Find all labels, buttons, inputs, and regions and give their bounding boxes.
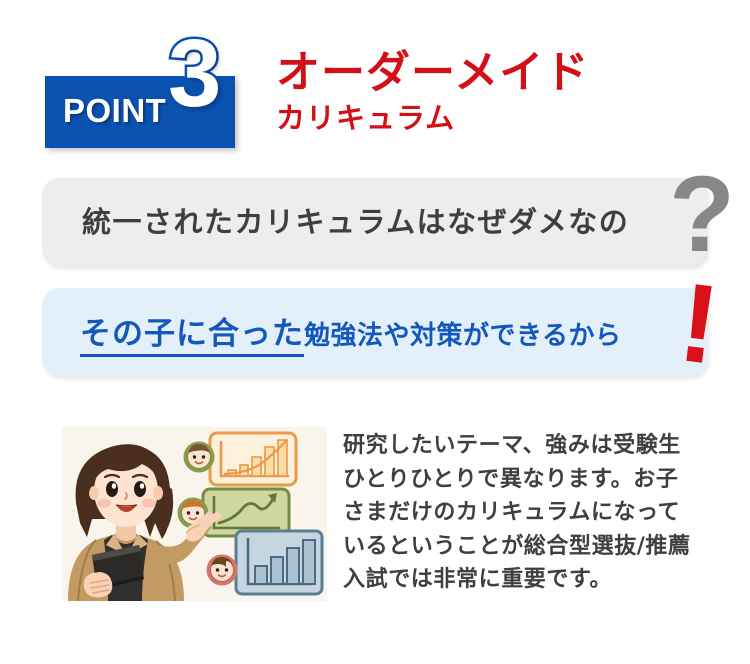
answer-section: その子に合った勉強法や対策ができるから ! — [0, 288, 750, 380]
blue-bar-chart-graphic — [236, 531, 322, 594]
teacher-pointing-at-charts-illustration — [62, 427, 327, 601]
student-avatar-red-3 — [207, 555, 238, 586]
question-bubble: 統一されたカリキュラムはなぜダメなの — [42, 178, 707, 266]
answer-emphasis: その子に合った — [80, 316, 304, 357]
question-mark-icon: ? — [669, 160, 735, 268]
body-paragraph: 研究したいテーマ、強みは受験生ひとりひとりで異なります。お子さまだけのカリキュラ… — [343, 429, 701, 597]
answer-rest: 勉強法や対策ができるから — [304, 321, 621, 351]
orange-bar-chart-graphic — [210, 433, 296, 485]
page-title: オーダーメイド カリキュラム — [276, 48, 589, 135]
page-title-main: オーダーメイド — [276, 48, 589, 98]
student-avatar-green-1 — [184, 442, 215, 473]
point-badge-number: 3 — [168, 26, 221, 122]
page-title-sub: カリキュラム — [276, 101, 589, 135]
header: POINT 3 オーダーメイド カリキュラム — [0, 0, 750, 170]
content-section: 研究したいテーマ、強みは受験生ひとりひとりで異なります。お子さまだけのカリキュラ… — [0, 427, 750, 647]
question-section: 統一されたカリキュラムはなぜダメなの ? — [0, 178, 750, 270]
exclamation-mark-icon: ! — [674, 266, 725, 382]
point-badge-label: POINT — [63, 92, 166, 130]
answer-bubble: その子に合った勉強法や対策ができるから — [42, 288, 707, 376]
question-text: 統一されたカリキュラムはなぜダメなの — [82, 200, 629, 244]
answer-text: その子に合った勉強法や対策ができるから — [80, 308, 621, 353]
